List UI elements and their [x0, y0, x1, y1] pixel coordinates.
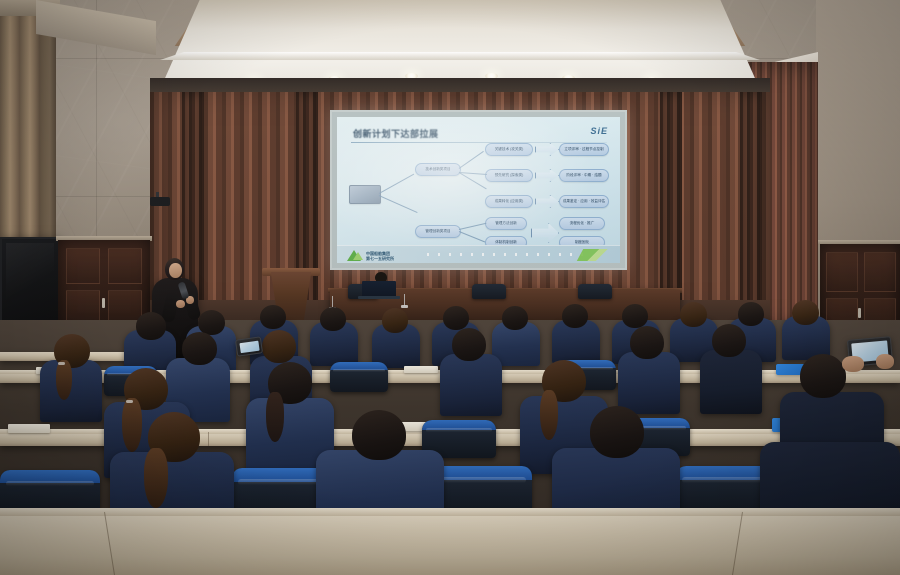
diagram-edge [459, 223, 487, 230]
diagram-result-node: 阶段评审 · 中期 · 结题 [559, 169, 609, 182]
diagram-branch-node: 管理创新类项目 [415, 225, 461, 238]
diagram-arrow-right [535, 195, 559, 208]
door-panel [66, 248, 100, 284]
audience-head [260, 305, 286, 329]
wall-camera-icon [150, 197, 170, 206]
audience-head [502, 306, 528, 330]
diagram-edge [379, 195, 418, 213]
audience-head [352, 410, 406, 460]
diagram-arrow-right [531, 223, 559, 243]
audience-head [630, 326, 664, 359]
open-notebook[interactable] [404, 366, 438, 373]
audience-torso [618, 352, 680, 414]
diagram-branch-node: 技术创新类项目 [415, 163, 461, 176]
diagram-leaf-node: 成果转化 (应用类) [485, 195, 533, 208]
slide-title: 创新计划下达部拉展 [353, 127, 439, 140]
audience-head [680, 302, 707, 327]
door-handle-icon[interactable] [102, 298, 105, 308]
presenter-hand [176, 300, 185, 308]
wall-mounted-display [0, 237, 60, 327]
diagram-result-node: 流程优化 · 推广 [559, 217, 605, 230]
door-panel [826, 252, 858, 292]
audience-torso [700, 350, 762, 414]
wood-column [740, 92, 762, 330]
open-notebook[interactable] [8, 424, 50, 433]
laptop-base [358, 296, 400, 299]
audience-head [136, 312, 166, 340]
ceiling-light-cove [160, 52, 760, 60]
audience-head [622, 304, 648, 328]
hand-holding-phone [842, 356, 864, 372]
presentation-slide: 创新计划下达部拉展 SiE 技术创新类项目 管理创新类项目 关键技术 (攻关类)… [337, 117, 620, 263]
smartphone-screen [239, 341, 259, 354]
hair-tie [126, 400, 133, 403]
audience-head [443, 306, 469, 330]
audience-head [800, 354, 846, 398]
stage-wall-trim [150, 78, 770, 92]
door-handle-icon[interactable] [858, 308, 861, 318]
diagram-arrow-right [535, 143, 559, 156]
diagram-edge [459, 231, 485, 242]
audience-head [182, 332, 217, 365]
smartphone[interactable] [235, 336, 263, 356]
microphone-base [401, 305, 408, 308]
foreground-desk [0, 512, 900, 575]
diagram-leaf-node: 预先研究 (探索类) [485, 169, 533, 182]
stage-chair[interactable] [472, 284, 506, 299]
door-panel [108, 248, 142, 284]
diagram-leaf-node: 管理方法创新 [485, 217, 527, 230]
audience-head [452, 328, 486, 361]
diagram-result-node: 成果鉴定 · 应用 · 效益评估 [559, 195, 609, 208]
slide-footer: 中国船舶集团 第七一五研究所 [337, 245, 620, 263]
open-laptop[interactable] [362, 281, 396, 297]
audience-head [562, 304, 588, 328]
diagram-edge [379, 174, 414, 194]
slide-brand-logo: SiE [590, 126, 608, 136]
audience-chair[interactable] [330, 362, 388, 392]
audience-torso [440, 354, 502, 416]
ponytail [122, 398, 142, 452]
foreground-desk-edge [0, 508, 900, 516]
audience-head [712, 324, 746, 357]
diagram-result-node: 立项评审 · 过程节点控制 [559, 143, 609, 156]
audience-head [320, 307, 346, 331]
audience-head [382, 308, 408, 333]
audience-head [590, 406, 644, 458]
ponytail [540, 390, 558, 440]
ponytail [266, 392, 284, 442]
diagram-edge [459, 151, 484, 169]
slide-accent-swish [577, 249, 617, 261]
ponytail [144, 448, 168, 508]
stage-chair[interactable] [578, 284, 612, 299]
slide-brand-line2: 第七一五研究所 [366, 256, 394, 261]
hair-tie [58, 362, 65, 365]
audience-head [262, 330, 296, 363]
ponytail [56, 360, 72, 400]
projection-screen: 创新计划下达部拉展 SiE 技术创新类项目 管理创新类项目 关键技术 (攻关类)… [330, 110, 627, 270]
diagram-arrow-right [535, 169, 559, 182]
projection-screen-surface: 创新计划下达部拉展 SiE 技术创新类项目 管理创新类项目 关键技术 (攻关类)… [337, 117, 620, 263]
hand-holding-phone [876, 354, 894, 369]
audience-head [738, 302, 764, 326]
diagram-root-node [349, 185, 381, 204]
door-panel [864, 252, 896, 292]
slide-footer-dots [427, 253, 587, 256]
audience-head [792, 300, 819, 325]
mountain-logo-icon [353, 252, 363, 260]
left-door[interactable] [58, 240, 150, 332]
desk-seam [208, 432, 209, 446]
slide-brand-mark: 中国船舶集团 第七一五研究所 [347, 250, 394, 261]
diagram-leaf-node: 关键技术 (攻关类) [485, 143, 533, 156]
display-glare [6, 243, 54, 321]
conference-room-photo: 创新计划下达部拉展 SiE 技术创新类项目 管理创新类项目 关键技术 (攻关类)… [0, 0, 900, 575]
presenter-face [169, 263, 182, 278]
